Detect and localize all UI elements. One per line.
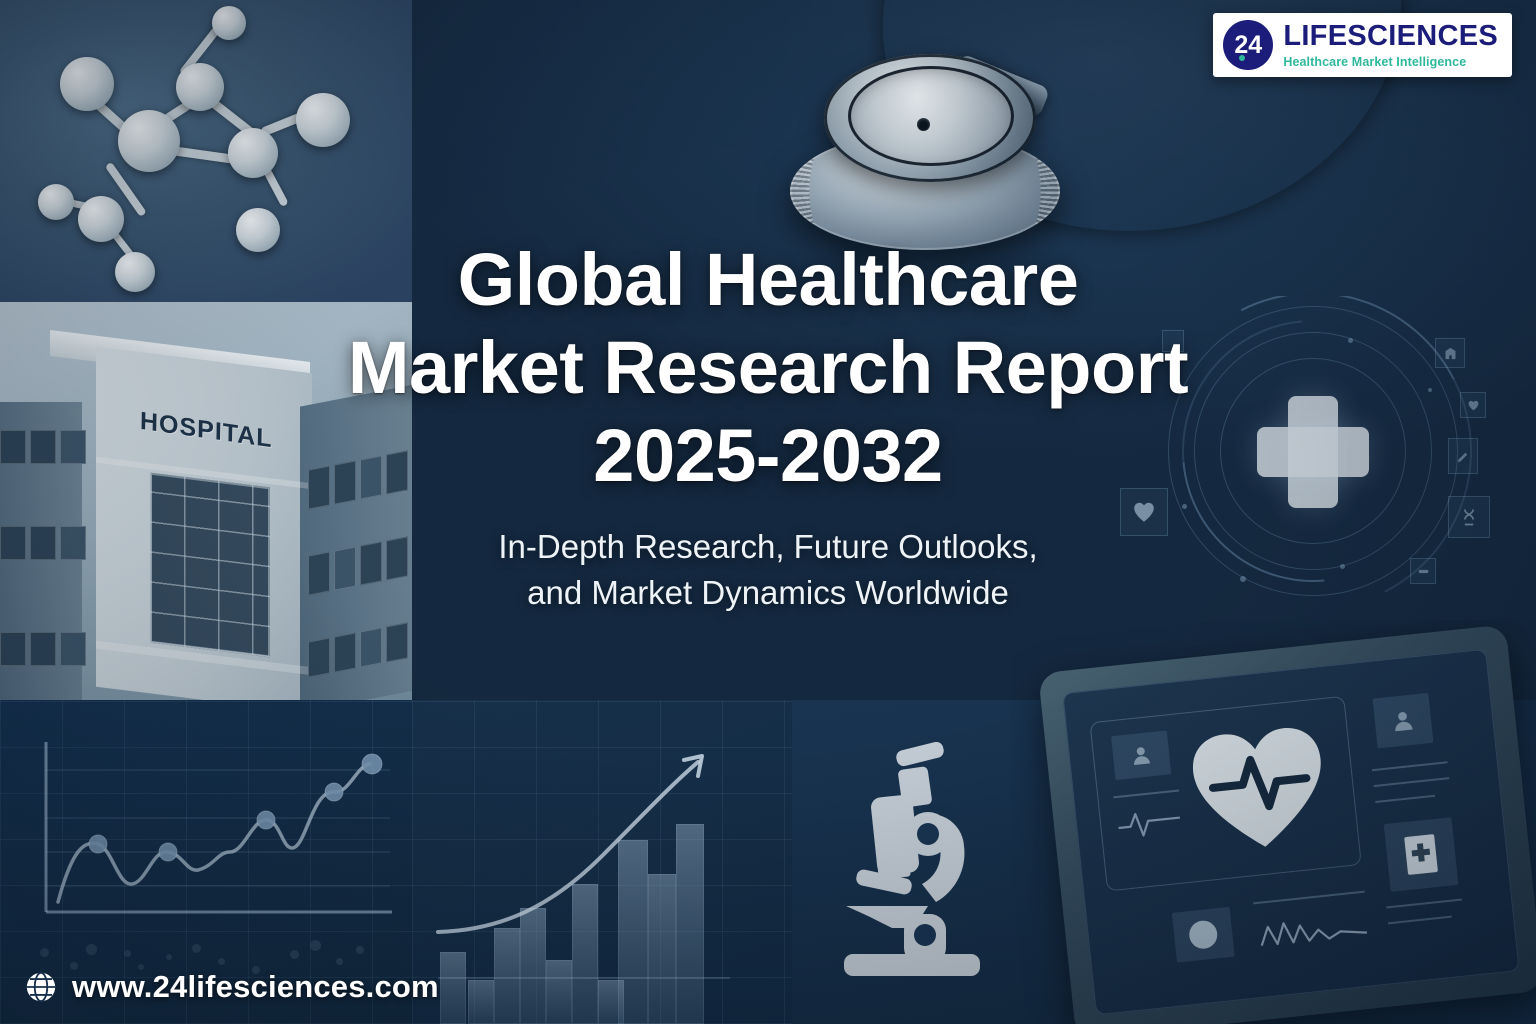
dashboard-divider xyxy=(1374,777,1450,787)
medical-cross-icon xyxy=(1257,427,1369,477)
hud-tile-pill-icon xyxy=(1410,558,1436,584)
doctor-avatar-tile xyxy=(1373,693,1434,749)
hospital-panel: HOSPITAL xyxy=(0,302,412,700)
hud-tile-syringe-icon xyxy=(1448,438,1478,474)
hud-dot xyxy=(1348,338,1353,343)
molecule-panel xyxy=(0,0,412,302)
stethoscope-diaphragm xyxy=(848,66,1014,166)
website-url[interactable]: www.24lifesciences.com xyxy=(72,969,439,1005)
logo-badge-wrap: 24 xyxy=(1223,20,1273,70)
hud-dot xyxy=(1240,576,1246,582)
report-cover: HOSPITAL xyxy=(0,0,1536,1024)
hud-tile-hospital-icon xyxy=(1435,338,1465,368)
dashboard-divider xyxy=(1253,891,1365,905)
globe-icon xyxy=(24,970,58,1004)
hud-dot xyxy=(1428,388,1432,392)
logo-badge-number: 24 xyxy=(1223,20,1273,70)
dashboard-divider xyxy=(1372,761,1448,771)
medical-record-tile xyxy=(1384,817,1459,892)
hospital-glass-wall xyxy=(150,473,270,658)
patient-avatar-tile xyxy=(1111,730,1171,780)
dashboard-divider xyxy=(1375,795,1435,803)
heart-pulse-icon xyxy=(1183,716,1336,865)
hud-tile-empty xyxy=(1162,330,1184,352)
company-logo[interactable]: 24 LIFESCIENCES Healthcare Market Intell… xyxy=(1213,13,1512,77)
footer-bar: www.24lifesciences.com xyxy=(0,950,1536,1024)
logo-tagline: Healthcare Market Intelligence xyxy=(1283,56,1498,69)
hud-dot xyxy=(1182,504,1187,509)
logo-text: LIFESCIENCES Healthcare Market Intellige… xyxy=(1283,22,1498,69)
hud-tile-heart-icon xyxy=(1460,392,1486,418)
dashboard-divider xyxy=(1386,899,1462,909)
hud-tile-heart-icon xyxy=(1120,488,1168,536)
logo-brand-name: LIFESCIENCES xyxy=(1283,22,1498,51)
dashboard-divider xyxy=(1388,916,1452,925)
hud-tile-dna-icon xyxy=(1448,496,1490,538)
window-row xyxy=(0,632,86,666)
window-row xyxy=(0,526,86,560)
stethoscope-port-hole xyxy=(917,118,930,131)
ecg-waveform-icon xyxy=(1257,905,1370,954)
status-dot-icon xyxy=(1188,919,1219,950)
hud-dot xyxy=(1340,564,1345,569)
window-row xyxy=(0,430,86,464)
mini-ecg-icon xyxy=(1115,803,1184,842)
